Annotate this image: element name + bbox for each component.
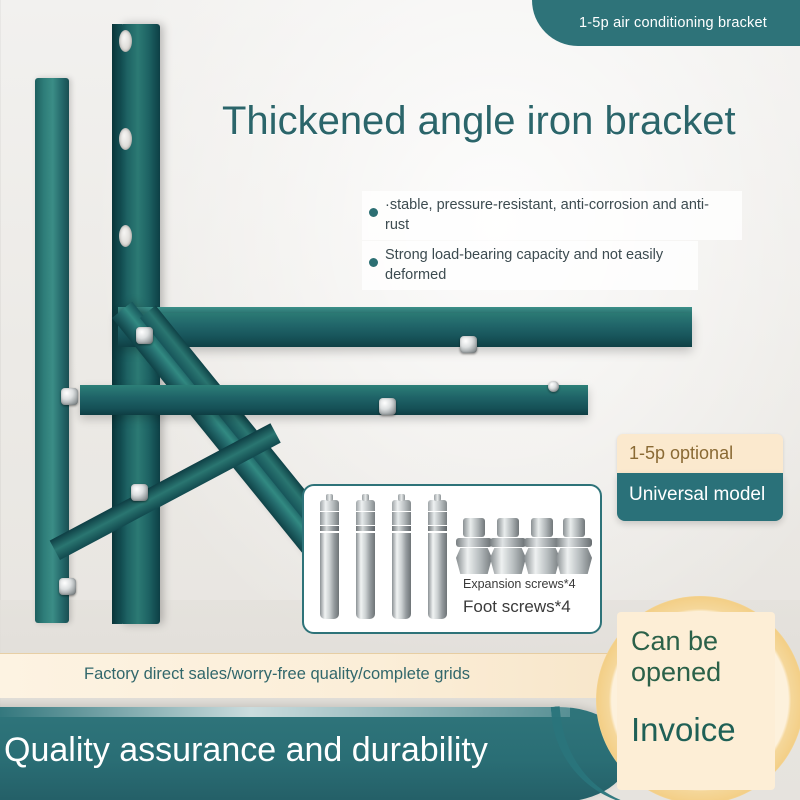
foot-screw-washer xyxy=(490,538,526,547)
expansion-screws-label: Expansion screws*4 xyxy=(459,576,580,592)
foot-screw xyxy=(490,518,526,574)
foot-screw-head xyxy=(531,518,553,537)
foot-screw-washer xyxy=(524,538,560,547)
screw-pin xyxy=(326,494,333,501)
foot-screw-base xyxy=(524,548,560,574)
screw-washer xyxy=(392,526,411,531)
bracket-middle-arm xyxy=(80,385,588,415)
expansion-screw xyxy=(428,500,447,619)
bottom-strip-text: Factory direct sales/worry-free quality/… xyxy=(84,665,470,684)
bolt xyxy=(59,578,76,595)
bolt xyxy=(548,381,559,392)
foot-screws-label: Foot screws*4 xyxy=(459,596,575,618)
accessories-panel: Expansion screws*4 Foot screws*4 xyxy=(302,484,602,634)
screw-pin xyxy=(434,494,441,501)
model-badge-group: 1-5p optional Universal model xyxy=(617,434,783,521)
foot-screw-base xyxy=(456,548,492,574)
screw-head xyxy=(320,500,339,511)
bracket-top-arm xyxy=(118,313,692,347)
feature-item-1: ·stable, pressure-resistant, anti-corros… xyxy=(362,191,742,240)
banner-gloss xyxy=(0,707,570,717)
expansion-screw xyxy=(356,500,375,619)
expansion-screw xyxy=(392,500,411,619)
bolt xyxy=(136,327,153,344)
feature-text: ·stable, pressure-resistant, anti-corros… xyxy=(385,195,732,235)
screw-washer xyxy=(320,526,339,531)
invoice-line-1: Can be opened xyxy=(631,626,761,689)
mounting-hole xyxy=(119,225,132,247)
feature-text: Strong load-bearing capacity and not eas… xyxy=(385,245,688,285)
screw-shaft xyxy=(428,533,447,619)
page-title: Thickened angle iron bracket xyxy=(222,99,736,143)
badge-optional-capacity: 1-5p optional xyxy=(617,434,783,473)
foot-screw-head xyxy=(563,518,585,537)
screw-washer xyxy=(356,526,375,531)
screw-nut xyxy=(392,512,411,525)
bolt xyxy=(61,388,78,405)
screw-nut xyxy=(356,512,375,525)
bullet-dot-icon xyxy=(369,258,378,267)
foot-screw-head xyxy=(497,518,519,537)
screw-pin xyxy=(362,494,369,501)
screw-washer xyxy=(428,526,447,531)
badge-universal-model: Universal model xyxy=(617,473,783,521)
feature-item-2: Strong load-bearing capacity and not eas… xyxy=(362,241,698,290)
screw-nut xyxy=(320,512,339,525)
screw-head xyxy=(356,500,375,511)
invoice-callout: Can be opened Invoice xyxy=(617,612,775,790)
invoice-line-2: Invoice xyxy=(631,711,761,749)
foot-screw xyxy=(556,518,592,574)
screw-head xyxy=(392,500,411,511)
foot-screw-washer xyxy=(456,538,492,547)
advertisement-canvas: 1-5p air conditioning bracket Thickened … xyxy=(0,0,800,800)
foot-screw-base xyxy=(556,548,592,574)
foot-screw xyxy=(524,518,560,574)
expansion-screw xyxy=(320,500,339,619)
screw-shaft xyxy=(356,533,375,619)
screw-shaft xyxy=(392,533,411,619)
bullet-dot-icon xyxy=(369,208,378,217)
screw-pin xyxy=(398,494,405,501)
screw-nut xyxy=(428,512,447,525)
foot-screw xyxy=(456,518,492,574)
screw-head xyxy=(428,500,447,511)
bottom-teal-banner: Quality assurance and durability xyxy=(0,707,630,800)
foot-screw-head xyxy=(463,518,485,537)
mounting-hole xyxy=(119,128,132,150)
top-tag-label: 1-5p air conditioning bracket xyxy=(579,15,767,31)
mounting-hole xyxy=(119,30,132,52)
foot-screw-washer xyxy=(556,538,592,547)
screw-shaft xyxy=(320,533,339,619)
bottom-cream-strip: Factory direct sales/worry-free quality/… xyxy=(0,653,680,698)
bolt xyxy=(379,398,396,415)
bottom-banner-text: Quality assurance and durability xyxy=(4,731,488,770)
bolt xyxy=(460,336,477,353)
foot-screw-base xyxy=(490,548,526,574)
top-right-tag: 1-5p air conditioning bracket xyxy=(532,0,800,46)
bolt xyxy=(131,484,148,501)
